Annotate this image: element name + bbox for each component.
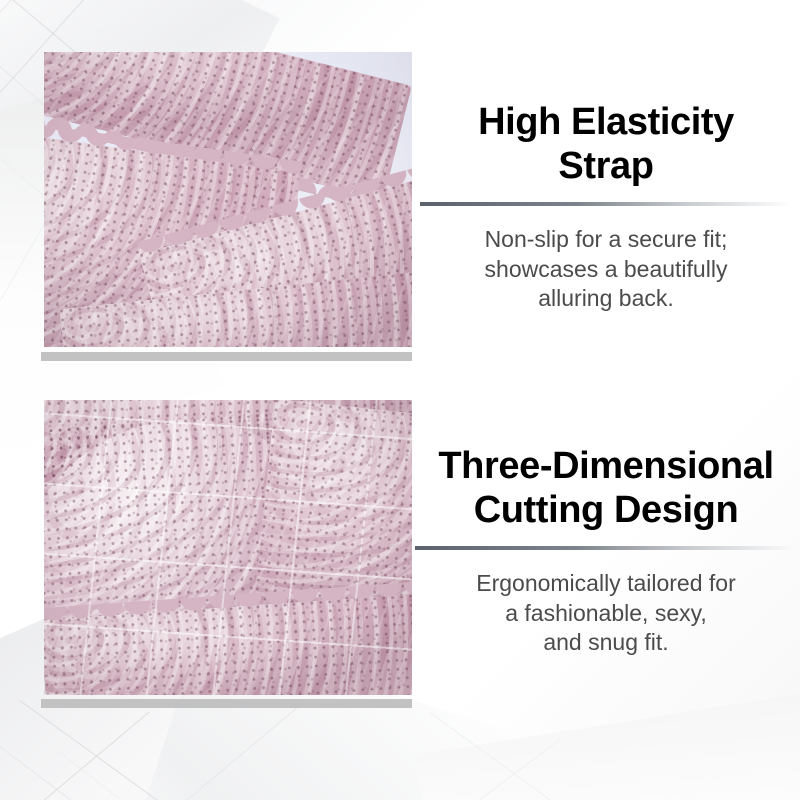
- photo-drop-shadow-2: [41, 699, 412, 708]
- feature-description-line: showcases a beautifully: [485, 256, 728, 282]
- feature-title-line: Cutting Design: [474, 489, 739, 531]
- feature-description-2: Ergonomically tailored for a fashionable…: [415, 569, 797, 657]
- feature-description-line: Ergonomically tailored for: [476, 570, 736, 596]
- feature-description-1: Non-slip for a secure fit; showcases a b…: [420, 225, 792, 313]
- feature-description-line: Non-slip for a secure fit;: [485, 226, 728, 252]
- photo-vignette: [44, 400, 412, 695]
- feature-title-1: High Elasticity Strap: [420, 100, 792, 188]
- paper-crease-line: [416, 739, 560, 800]
- paper-fold-panel: [415, 688, 800, 800]
- feature-photo-2: [44, 400, 412, 695]
- feature-description-line: a fashionable, sexy,: [505, 600, 707, 626]
- feature-title-2: Three-Dimensional Cutting Design: [415, 444, 797, 532]
- product-feature-poster: High Elasticity Strap Non-slip for a sec…: [0, 0, 800, 800]
- photo-vignette: [44, 52, 412, 347]
- feature-divider-rule-2: [415, 546, 797, 550]
- paper-crease-line: [0, 716, 168, 800]
- feature-photo-1: [44, 52, 412, 347]
- photo-backdrop: [44, 52, 412, 347]
- photo-backdrop: [44, 400, 412, 695]
- photo-drop-shadow-1: [41, 352, 412, 361]
- feature-description-line: alluring back.: [538, 285, 674, 311]
- feature-title-line: Three-Dimensional: [438, 445, 773, 487]
- paper-crease-line: [138, 705, 300, 800]
- feature-title-line: Strap: [558, 145, 653, 187]
- feature-text-block-2: Three-Dimensional Cutting Design Ergonom…: [415, 444, 797, 657]
- paper-crease-line: [429, 712, 624, 800]
- feature-divider-rule-1: [420, 202, 792, 206]
- paper-crease-line: [0, 0, 40, 102]
- paper-crease-line: [54, 748, 212, 800]
- feature-text-block-1: High Elasticity Strap Non-slip for a sec…: [420, 100, 792, 313]
- paper-crease-line: [19, 700, 262, 800]
- feature-title-line: High Elasticity: [478, 101, 734, 143]
- paper-crease-line: [0, 711, 150, 800]
- feature-description-line: and snug fit.: [543, 629, 668, 655]
